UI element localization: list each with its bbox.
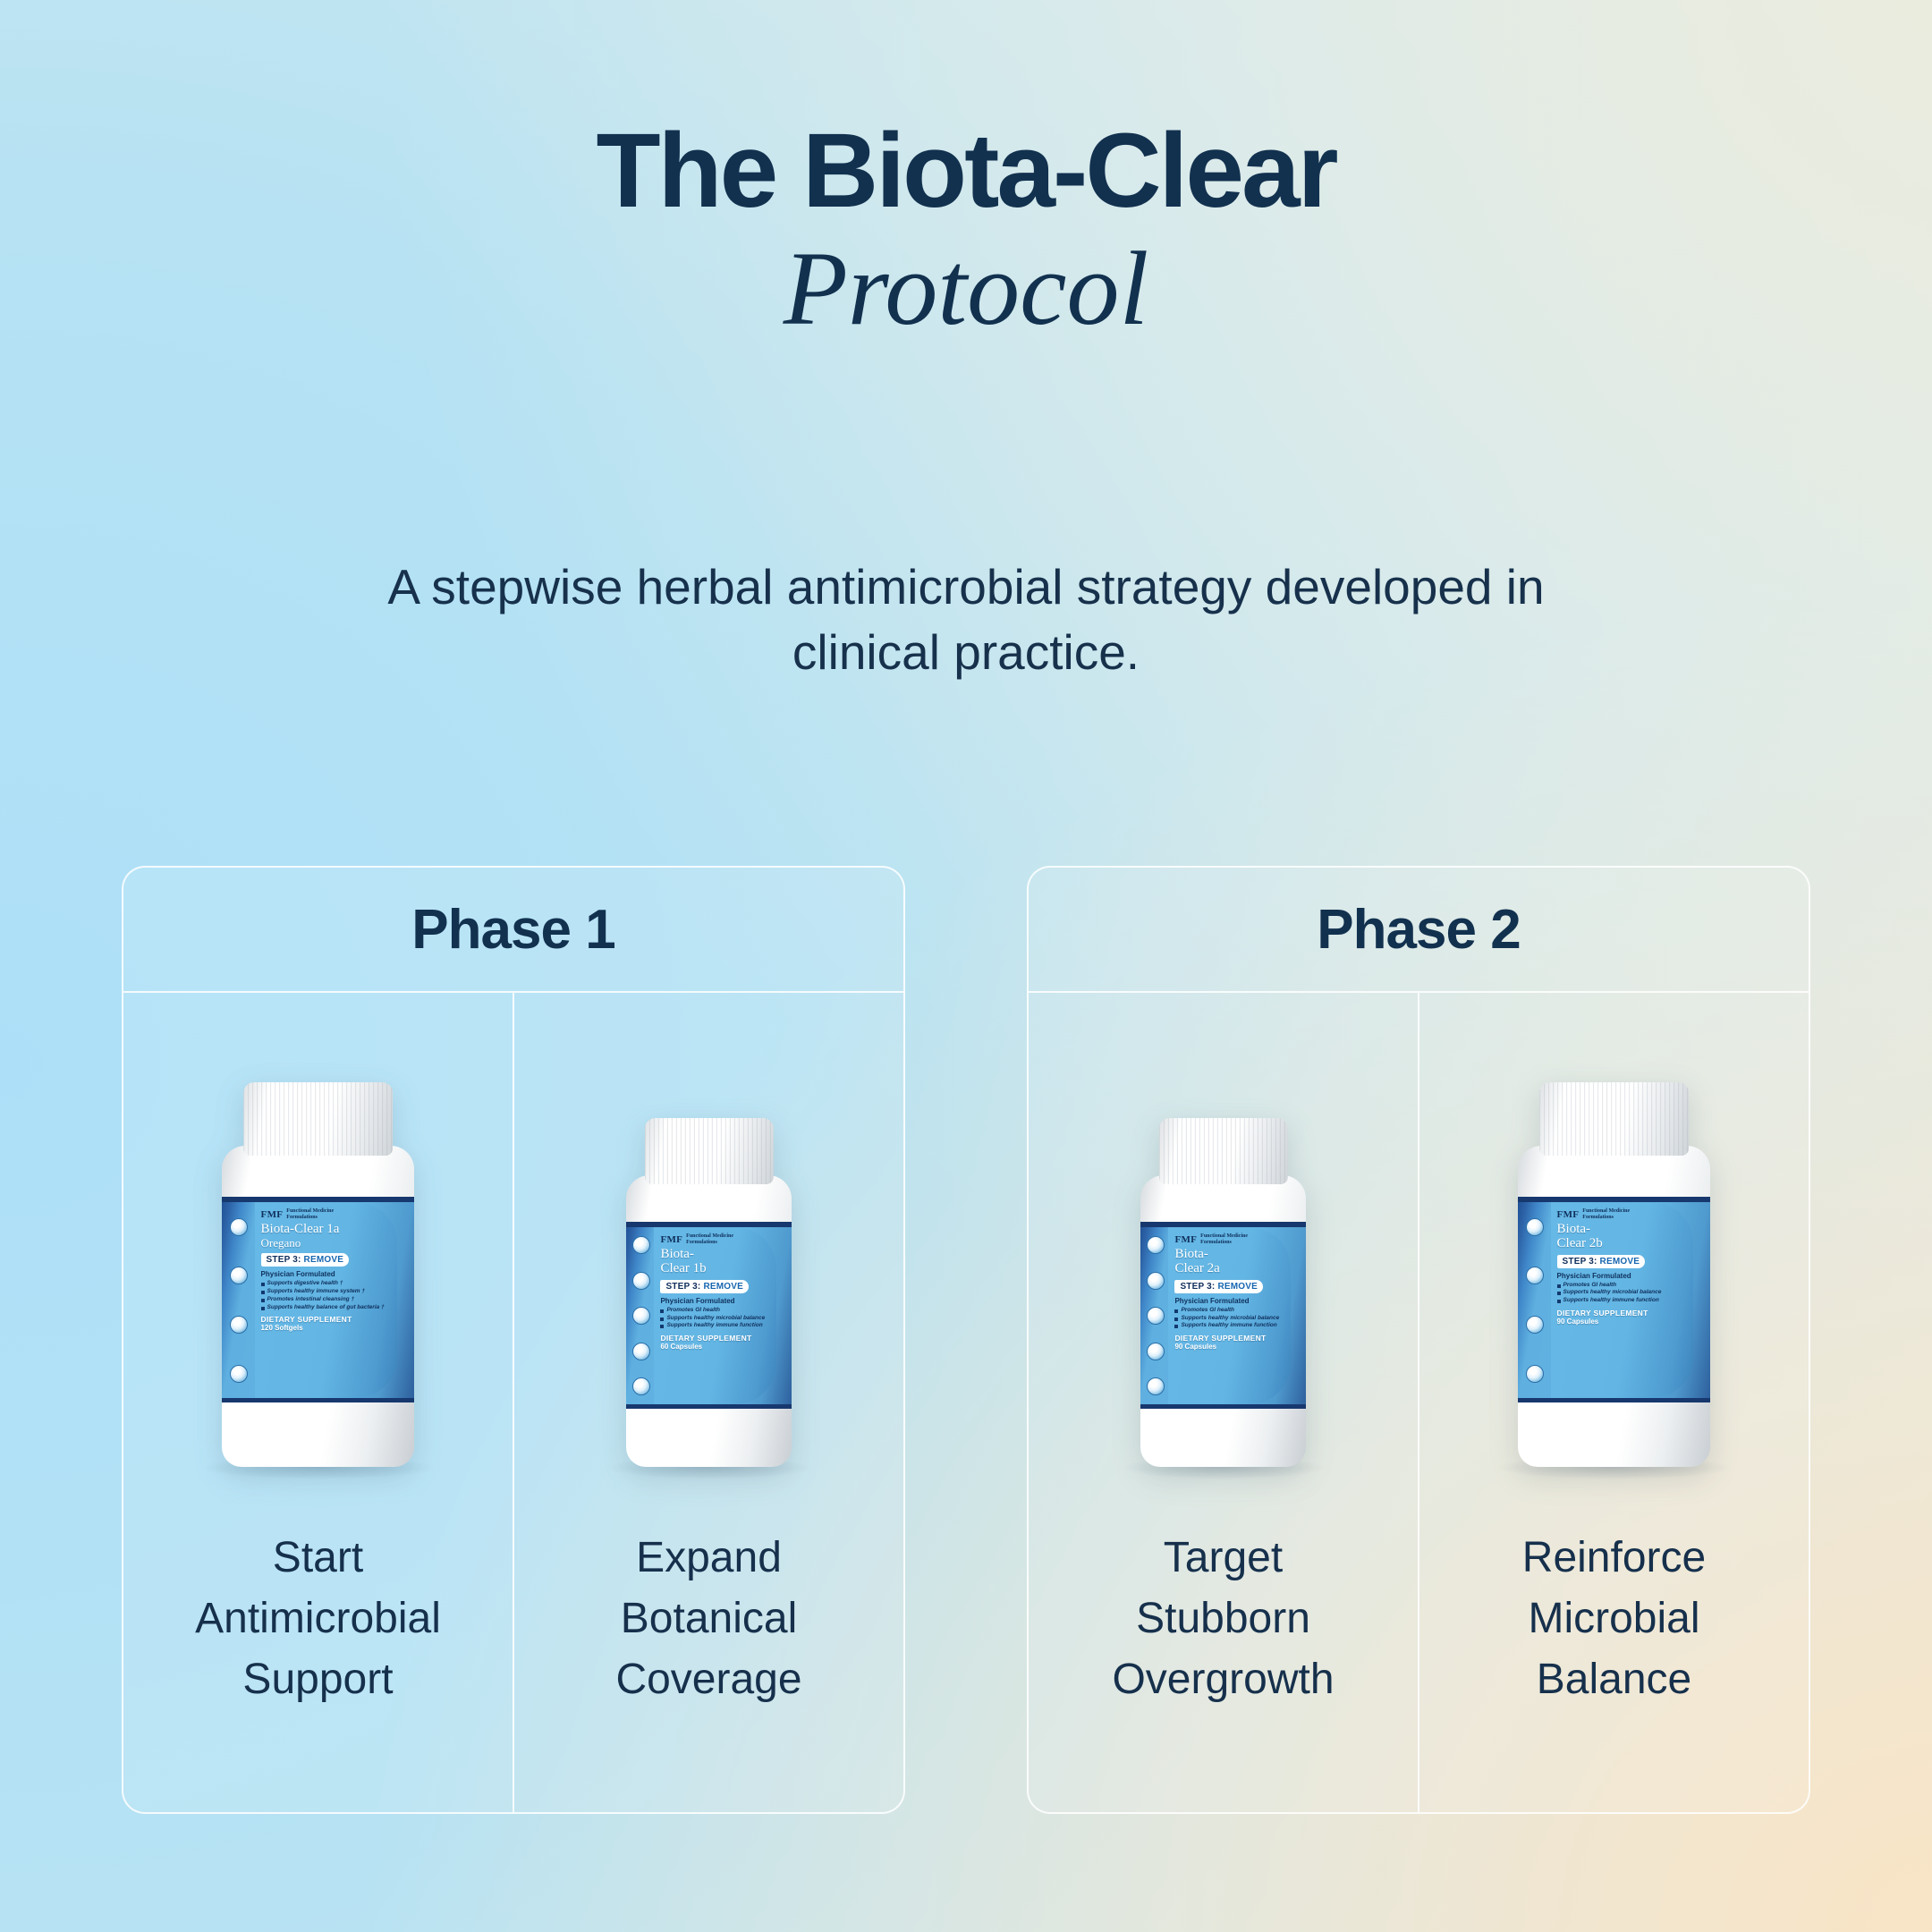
- certification-seals: [631, 1227, 652, 1403]
- seal-icon: [1147, 1272, 1165, 1290]
- product-cell-biota-clear-2a[interactable]: FMF Functional Medicine Formulations Bio…: [1029, 993, 1418, 1812]
- label-bottom-stripe: [1140, 1404, 1306, 1409]
- label-content: FMF Functional Medicine Formulations Bio…: [1551, 1202, 1693, 1398]
- bottle-label: FMF Functional Medicine Formulations Bio…: [1518, 1197, 1710, 1402]
- benefit-item: Promotes intestinal cleansing †: [261, 1296, 392, 1303]
- bottle-biota-clear-2b: FMF Functional Medicine Formulations Bio…: [1518, 1082, 1710, 1467]
- bottle-cap: [243, 1082, 394, 1156]
- step-badge: STEP 3: REMOVE: [261, 1253, 350, 1267]
- product-name: Biota- Clear 2b: [1557, 1223, 1688, 1250]
- seal-icon: [632, 1307, 650, 1325]
- benefit-item: Promotes GI health: [1557, 1282, 1688, 1289]
- seal-icon: [1526, 1218, 1544, 1236]
- certification-seals: [1522, 1202, 1547, 1398]
- step-badge: STEP 3: REMOVE: [1557, 1255, 1646, 1268]
- benefit-item: Supports healthy microbial balance: [660, 1315, 771, 1322]
- page-title-line2: Protocol: [0, 226, 1932, 351]
- step-prefix: STEP 3:: [665, 1282, 700, 1292]
- bottle-cap: [1539, 1082, 1690, 1156]
- phase-2-heading: Phase 2: [1029, 868, 1809, 993]
- phase-card-1: Phase 1: [122, 866, 905, 1814]
- product-name: Biota- Clear 1b: [660, 1248, 771, 1275]
- page-title-line1: The Biota-Clear: [0, 116, 1932, 226]
- seal-icon: [632, 1236, 650, 1254]
- bottle-body: FMF Functional Medicine Formulations Bio…: [626, 1175, 792, 1467]
- label-content: FMF Functional Medicine Formulations Bio…: [654, 1227, 776, 1403]
- seal-icon: [1526, 1365, 1544, 1383]
- bottle-image-wrap-2a: FMF Functional Medicine Formulations Bio…: [1140, 1020, 1306, 1467]
- bottle-biota-clear-2a: FMF Functional Medicine Formulations Bio…: [1140, 1118, 1306, 1467]
- phase-cards-container: Phase 1: [122, 866, 1810, 1814]
- brand-lockup: FMF Functional Medicine Formulations: [1557, 1208, 1688, 1220]
- dietary-supplement-line: DIETARY SUPPLEMENT: [660, 1334, 771, 1343]
- page-subtitle: A stepwise herbal antimicrobial strategy…: [367, 555, 1565, 684]
- bottle-image-wrap-1b: FMF Functional Medicine Formulations Bio…: [626, 1020, 792, 1467]
- product-name: Biota-Clear 1a: [261, 1223, 392, 1237]
- seal-icon: [230, 1316, 248, 1334]
- product-caption: Expand Botanical Coverage: [615, 1528, 801, 1710]
- product-name: Biota- Clear 2a: [1174, 1248, 1285, 1275]
- step-badge: STEP 3: REMOVE: [660, 1280, 749, 1293]
- bottle-cap: [1158, 1118, 1287, 1184]
- benefit-item: Supports healthy immune function: [660, 1322, 771, 1329]
- seal-icon: [1526, 1267, 1544, 1284]
- bottle-label: FMF Functional Medicine Formulations Bio…: [222, 1197, 414, 1402]
- step-action: REMOVE: [1217, 1282, 1258, 1292]
- product-subname: Oregano: [261, 1237, 392, 1250]
- benefit-item: Supports healthy microbial balance: [1557, 1289, 1688, 1296]
- bottle-biota-clear-1a: FMF Functional Medicine Formulations Bio…: [222, 1082, 414, 1467]
- label-bottom-stripe: [222, 1398, 414, 1402]
- seal-icon: [1526, 1316, 1544, 1334]
- phase-1-body: FMF Functional Medicine Formulations Bio…: [123, 993, 903, 1812]
- seal-icon: [230, 1218, 248, 1236]
- step-prefix: STEP 3:: [1180, 1282, 1215, 1292]
- fmf-logo-icon: FMF: [660, 1234, 682, 1245]
- bottle-body: FMF Functional Medicine Formulations Bio…: [1518, 1146, 1710, 1467]
- brand-lockup: FMF Functional Medicine Formulations: [660, 1233, 771, 1245]
- dietary-supplement-line: DIETARY SUPPLEMENT: [261, 1315, 392, 1324]
- infographic-page: The Biota-Clear Protocol A stepwise herb…: [0, 0, 1932, 1932]
- bottle-body: FMF Functional Medicine Formulations Bio…: [222, 1146, 414, 1467]
- fmf-logo-icon: FMF: [1557, 1209, 1580, 1220]
- bottle-image-wrap-1a: FMF Functional Medicine Formulations Bio…: [222, 1020, 414, 1467]
- seal-icon: [1147, 1236, 1165, 1254]
- label-content: FMF Functional Medicine Formulations Bio…: [255, 1202, 397, 1398]
- benefit-bullets: Supports digestive health † Supports hea…: [261, 1280, 392, 1311]
- brand-name: Functional Medicine Formulations: [1582, 1208, 1630, 1220]
- brand-lockup: FMF Functional Medicine Formulations: [1174, 1233, 1285, 1245]
- benefit-item: Supports healthy immune function: [1557, 1297, 1688, 1304]
- seal-icon: [1147, 1377, 1165, 1395]
- step-prefix: STEP 3:: [267, 1255, 301, 1265]
- step-badge: STEP 3: REMOVE: [1174, 1280, 1263, 1293]
- seal-icon: [632, 1377, 650, 1395]
- seal-icon: [1147, 1307, 1165, 1325]
- seal-icon: [632, 1343, 650, 1360]
- product-cell-biota-clear-1a[interactable]: FMF Functional Medicine Formulations Bio…: [123, 993, 513, 1812]
- bottle-cap: [644, 1118, 773, 1184]
- unit-count: 90 Capsules: [1557, 1318, 1688, 1326]
- benefit-item: Supports healthy immune system †: [261, 1288, 392, 1295]
- physician-formulated: Physician Formulated: [1174, 1297, 1285, 1305]
- bottle-biota-clear-1b: FMF Functional Medicine Formulations Bio…: [626, 1118, 792, 1467]
- bottle-body: FMF Functional Medicine Formulations Bio…: [1140, 1175, 1306, 1467]
- physician-formulated: Physician Formulated: [261, 1270, 392, 1278]
- label-content: FMF Functional Medicine Formulations Bio…: [1168, 1227, 1291, 1403]
- bottle-label: FMF Functional Medicine Formulations Bio…: [626, 1222, 792, 1408]
- benefit-item: Promotes GI health: [1174, 1307, 1285, 1314]
- label-bottom-stripe: [626, 1404, 792, 1409]
- certification-seals: [1145, 1227, 1166, 1403]
- certification-seals: [226, 1202, 251, 1398]
- brand-name: Functional Medicine Formulations: [1200, 1233, 1248, 1245]
- brand-lockup: FMF Functional Medicine Formulations: [261, 1208, 392, 1220]
- step-action: REMOVE: [1600, 1257, 1640, 1267]
- physician-formulated: Physician Formulated: [1557, 1272, 1688, 1280]
- benefit-item: Supports digestive health †: [261, 1280, 392, 1287]
- phase-1-heading: Phase 1: [123, 868, 903, 993]
- product-caption: Target Stubborn Overgrowth: [1112, 1528, 1334, 1710]
- product-cell-biota-clear-2b[interactable]: FMF Functional Medicine Formulations Bio…: [1418, 993, 1809, 1812]
- benefit-item: Promotes GI health: [660, 1307, 771, 1314]
- benefit-item: Supports healthy balance of gut bacteria…: [261, 1304, 392, 1311]
- seal-icon: [632, 1272, 650, 1290]
- step-prefix: STEP 3:: [1563, 1257, 1597, 1267]
- dietary-supplement-line: DIETARY SUPPLEMENT: [1174, 1334, 1285, 1343]
- physician-formulated: Physician Formulated: [660, 1297, 771, 1305]
- phase-card-2: Phase 2: [1027, 866, 1810, 1814]
- phase-2-body: FMF Functional Medicine Formulations Bio…: [1029, 993, 1809, 1812]
- unit-count: 120 Softgels: [261, 1324, 392, 1332]
- seal-icon: [230, 1267, 248, 1284]
- product-caption: Start Antimicrobial Support: [195, 1528, 441, 1710]
- seal-icon: [230, 1365, 248, 1383]
- page-header: The Biota-Clear Protocol: [0, 116, 1932, 351]
- brand-name: Functional Medicine Formulations: [686, 1233, 733, 1245]
- product-cell-biota-clear-1b[interactable]: FMF Functional Medicine Formulations Bio…: [513, 993, 903, 1812]
- brand-name: Functional Medicine Formulations: [286, 1208, 334, 1220]
- unit-count: 90 Capsules: [1174, 1343, 1285, 1351]
- product-caption: Reinforce Microbial Balance: [1522, 1528, 1706, 1710]
- benefit-item: Supports healthy microbial balance: [1174, 1315, 1285, 1322]
- benefit-bullets: Promotes GI health Supports healthy micr…: [1174, 1307, 1285, 1330]
- bottle-label: FMF Functional Medicine Formulations Bio…: [1140, 1222, 1306, 1408]
- benefit-bullets: Promotes GI health Supports healthy micr…: [1557, 1282, 1688, 1305]
- bottle-image-wrap-2b: FMF Functional Medicine Formulations Bio…: [1518, 1020, 1710, 1467]
- unit-count: 60 Capsules: [660, 1343, 771, 1351]
- step-action: REMOVE: [703, 1282, 743, 1292]
- fmf-logo-icon: FMF: [261, 1209, 284, 1220]
- benefit-item: Supports healthy immune function: [1174, 1322, 1285, 1329]
- dietary-supplement-line: DIETARY SUPPLEMENT: [1557, 1309, 1688, 1318]
- fmf-logo-icon: FMF: [1174, 1234, 1197, 1245]
- step-action: REMOVE: [304, 1255, 344, 1265]
- label-bottom-stripe: [1518, 1398, 1710, 1402]
- seal-icon: [1147, 1343, 1165, 1360]
- benefit-bullets: Promotes GI health Supports healthy micr…: [660, 1307, 771, 1330]
